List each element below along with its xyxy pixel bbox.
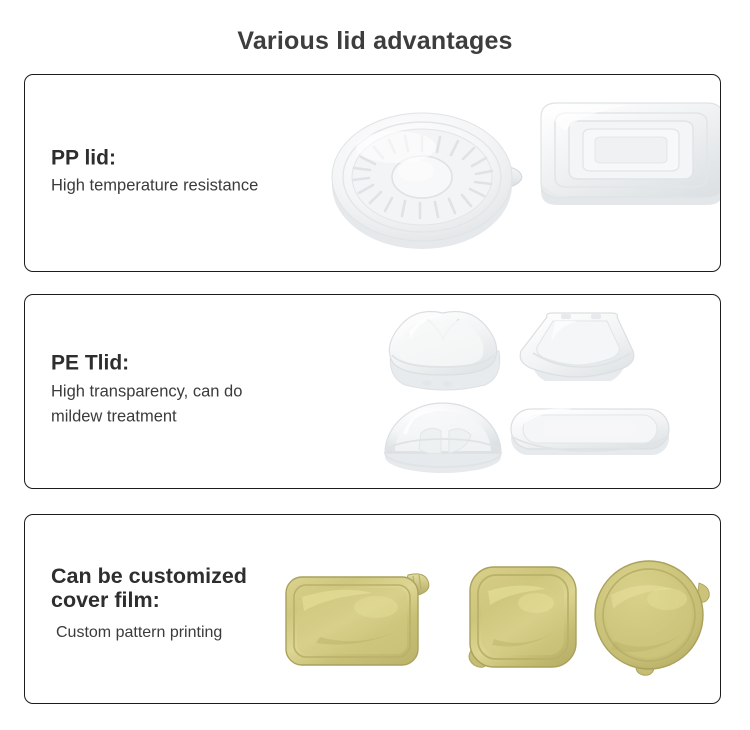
page-title: Various lid advantages bbox=[0, 17, 750, 56]
gold-square-foil-lid-image bbox=[460, 555, 590, 680]
card-product-images bbox=[335, 75, 720, 271]
card-description: High transparency, can do mildew treatme… bbox=[51, 379, 351, 430]
advantage-card-pp-lid: PP lid: High temperature resistance bbox=[24, 74, 721, 272]
card-product-images bbox=[335, 515, 720, 703]
card-product-images bbox=[335, 295, 720, 488]
gold-round-foil-lid-image bbox=[585, 555, 720, 680]
advantage-card-pet-lid: PE Tlid: High transparency, can do milde… bbox=[24, 294, 721, 489]
square-pet-lid-image bbox=[517, 309, 647, 401]
round-pp-lid-image bbox=[330, 89, 540, 259]
card-text-block: PE Tlid: High transparency, can do milde… bbox=[51, 352, 351, 431]
advantage-card-cover-film: Can be customized cover film: Custom pat… bbox=[24, 514, 721, 704]
card-description: High temperature resistance bbox=[51, 174, 351, 200]
oval-pet-lid-image bbox=[505, 397, 675, 473]
card-heading: PE Tlid: bbox=[51, 352, 351, 376]
card-heading: PP lid: bbox=[51, 146, 351, 170]
card-text-block: PP lid: High temperature resistance bbox=[51, 146, 351, 199]
rectangular-pp-lid-image bbox=[525, 87, 721, 237]
heart-dome-pet-lid-image bbox=[375, 303, 515, 403]
round-dome-pet-lid-image bbox=[379, 395, 509, 477]
gold-rectangular-foil-lid-image bbox=[280, 563, 450, 673]
